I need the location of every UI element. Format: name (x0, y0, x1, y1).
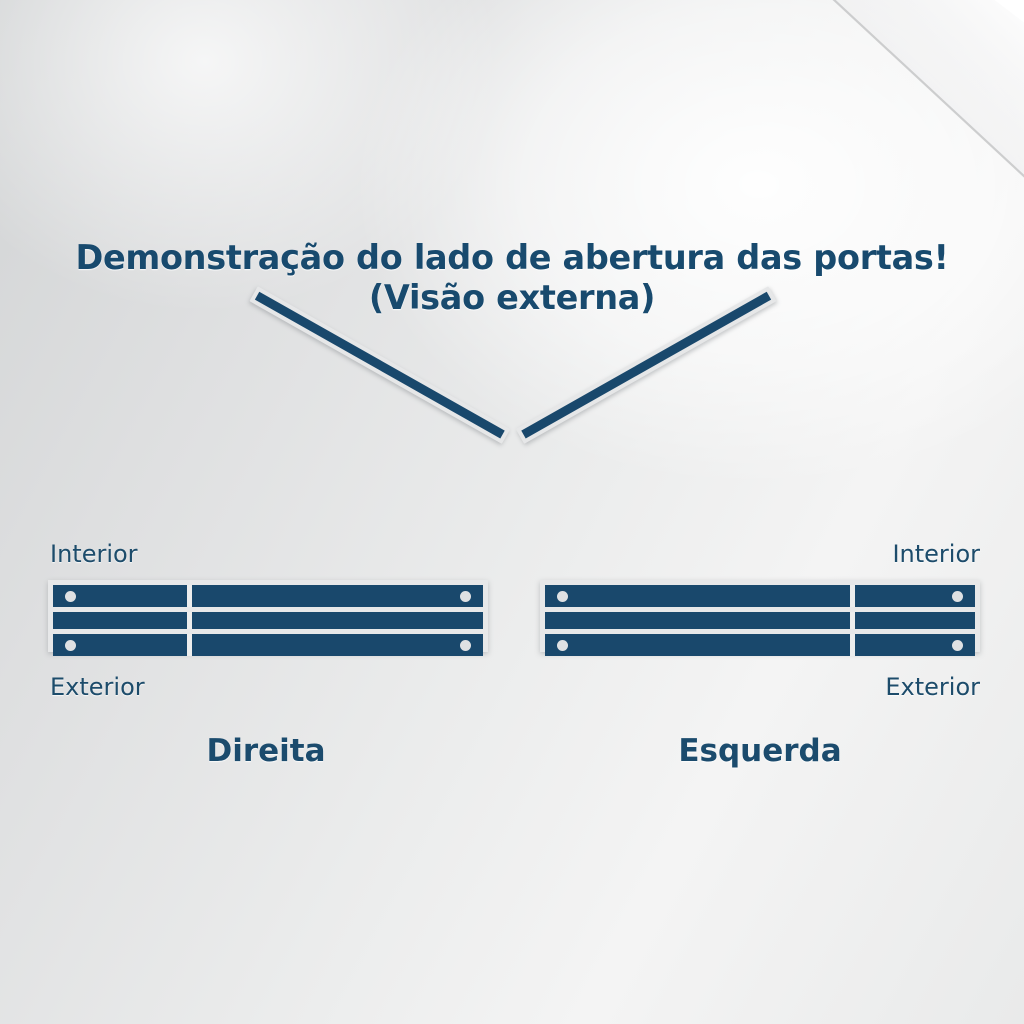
frame-bar-bottom (53, 634, 483, 656)
frame-divider (187, 585, 192, 607)
exterior-label: Exterior (50, 673, 145, 701)
frame-divider (850, 634, 855, 656)
frame-divider (187, 634, 192, 656)
frame-divider (850, 612, 855, 629)
diagram-esquerda: Interior Exterior Esquerda (520, 420, 1000, 800)
diagram-caption-esquerda: Esquerda (520, 732, 1000, 770)
hinge-pin-icon (952, 640, 963, 651)
frame-bar-top (545, 585, 975, 607)
page-title: Demonstração do lado de abertura das por… (0, 238, 1024, 318)
door-frame (48, 580, 488, 652)
page-title-line-2: (Visão externa) (0, 278, 1024, 318)
page-title-line-1: Demonstração do lado de abertura das por… (75, 238, 948, 277)
diagram-caption-direita: Direita (26, 732, 506, 770)
hinge-pin-icon (557, 640, 568, 651)
door-frame (540, 580, 980, 652)
paper-fold-corner-icon (796, 0, 1024, 178)
diagram-direita: Interior Exterior Direita (26, 420, 506, 800)
hinge-pin-icon (65, 640, 76, 651)
interior-label: Interior (892, 540, 980, 568)
interior-label: Interior (50, 540, 138, 568)
hinge-pin-icon (65, 591, 76, 602)
hinge-pin-icon (460, 591, 471, 602)
hinge-pin-icon (460, 640, 471, 651)
frame-bar-middle (53, 612, 483, 629)
frame-divider (187, 612, 192, 629)
frame-divider (850, 585, 855, 607)
hinge-pin-icon (557, 591, 568, 602)
frame-bar-top (53, 585, 483, 607)
hinge-pin-icon (952, 591, 963, 602)
exterior-label: Exterior (885, 673, 980, 701)
frame-bar-middle (545, 612, 975, 629)
illustration-canvas: Demonstração do lado de abertura das por… (0, 0, 1024, 1024)
frame-bar-bottom (545, 634, 975, 656)
